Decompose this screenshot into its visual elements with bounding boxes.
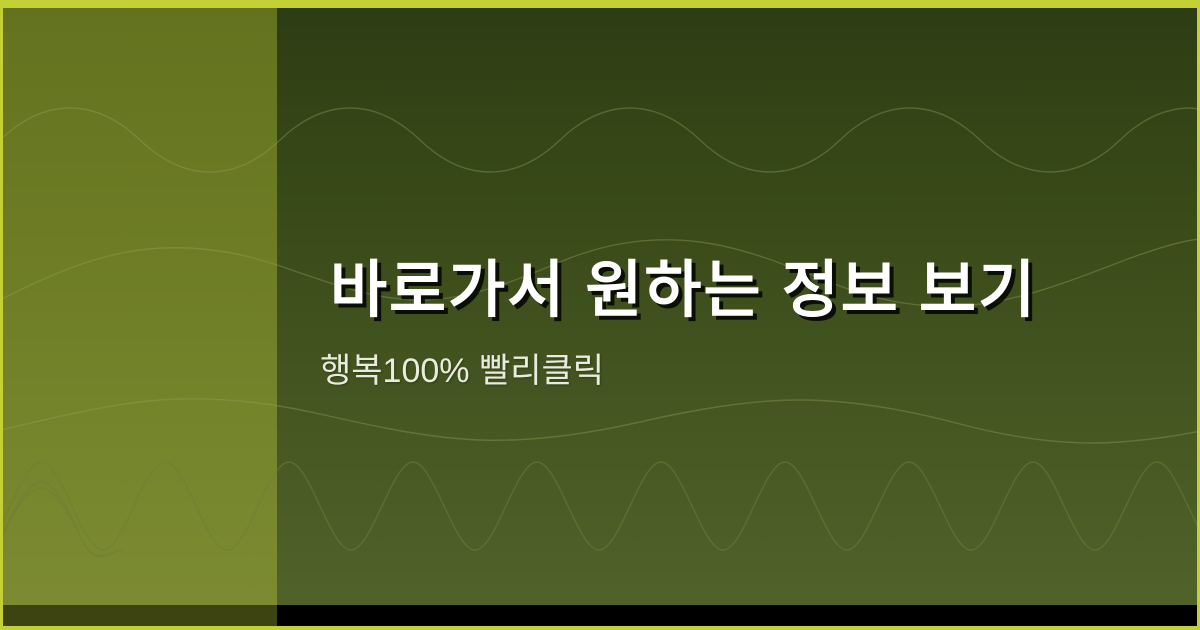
accent-border-bottom	[0, 626, 1200, 630]
footer-strip	[0, 605, 1200, 626]
accent-border-left	[0, 0, 3, 630]
promo-banner: 바로가서 원하는 정보 보기 행복100% 빨리클릭	[0, 0, 1200, 630]
accent-border-top	[0, 0, 1200, 8]
footer-strip-left	[0, 605, 277, 626]
content-layer: 바로가서 원하는 정보 보기 행복100% 빨리클릭	[0, 0, 1200, 630]
footer-strip-right	[277, 605, 1200, 626]
banner-subtitle: 행복100% 빨리클릭	[320, 351, 604, 392]
banner-title: 바로가서 원하는 정보 보기	[330, 258, 1037, 323]
